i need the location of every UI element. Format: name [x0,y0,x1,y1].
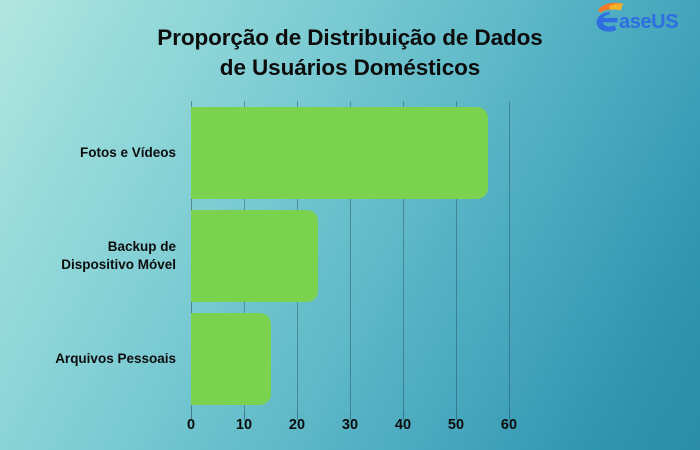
bar-1 [191,107,488,199]
x-axis-tick-label: 30 [330,417,370,433]
x-axis-tick-label: 60 [489,417,529,433]
bar-3 [191,313,271,405]
page-title: Proporção de Distribuição de Dados de Us… [0,23,700,83]
category-label-line: Arquivos Pessoais [0,350,176,368]
chart-canvas: aseUS Proporção de Distribuição de Dados… [0,0,700,450]
title-line-1: Proporção de Distribuição de Dados [0,23,700,53]
bar-2 [191,210,318,302]
category-label-line: Dispositivo Móvel [0,256,176,274]
title-line-2: de Usuários Domésticos [0,53,700,83]
x-axis-tick-label: 50 [436,417,476,433]
category-label-1: Fotos e Vídeos [0,144,176,162]
category-label-line: Fotos e Vídeos [0,144,176,162]
plot-area: 0102030405060 [191,101,515,411]
gridline-x-60 [509,101,510,411]
x-axis-tick-label: 10 [224,417,264,433]
x-axis-tick-label: 40 [383,417,423,433]
category-label-3: Arquivos Pessoais [0,350,176,368]
category-label-line: Backup de [0,238,176,256]
x-axis-tick-label: 0 [171,417,211,433]
category-label-2: Backup deDispositivo Móvel [0,238,176,274]
x-axis-tick-label: 20 [277,417,317,433]
